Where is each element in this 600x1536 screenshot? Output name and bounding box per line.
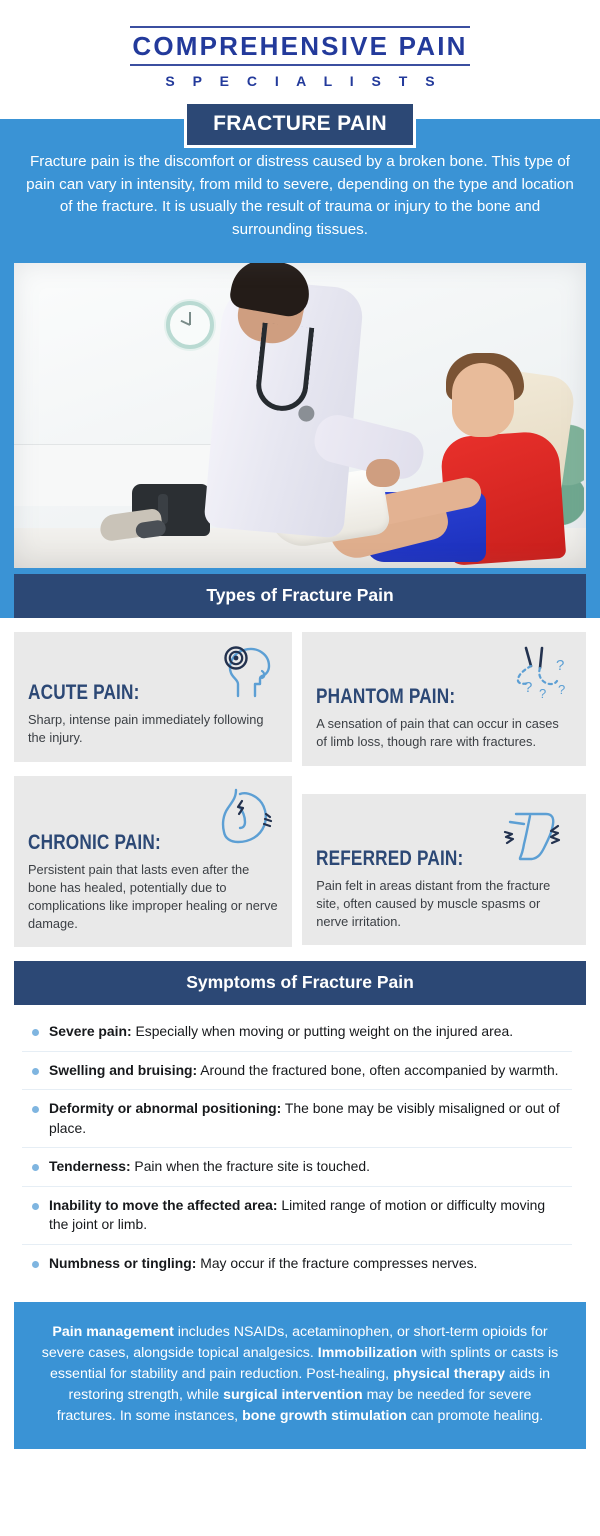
card-referred-pain: REFERRED PAIN: Pain felt in areas distan… — [302, 794, 586, 945]
intro-text: Fracture pain is the discomfort or distr… — [22, 151, 578, 241]
hero-photo — [14, 263, 586, 568]
footer-wrap: Pain management includes NSAIDs, acetami… — [0, 1288, 600, 1463]
symptom-text: Inability to move the affected area: Lim… — [49, 1196, 568, 1235]
card-head: PHANTOM PAIN: ? ? ? ? — [316, 644, 572, 709]
head-target-icon — [212, 644, 278, 705]
types-card-grid: ACUTE PAIN: Sharp, intense pain immediat… — [0, 618, 600, 947]
card-acute-pain: ACUTE PAIN: Sharp, intense pain immediat… — [14, 632, 292, 761]
brand-logo: COMPREHENSIVE PAIN S P E C I A L I S T S — [0, 0, 600, 101]
symptom-text: Deformity or abnormal positioning: The b… — [49, 1099, 568, 1138]
types-bar-wrap: Types of Fracture Pain — [0, 568, 600, 618]
types-section-heading: Types of Fracture Pain — [14, 574, 586, 618]
card-body-acute: Sharp, intense pain immediately followin… — [28, 705, 278, 747]
bullet-dot-icon — [32, 1261, 39, 1268]
symptom-list-item: Numbness or tingling: May occur if the f… — [22, 1245, 572, 1282]
svg-text:?: ? — [558, 682, 565, 697]
symptoms-section-heading: Symptoms of Fracture Pain — [14, 961, 586, 1005]
hero-photo-frame — [0, 257, 600, 568]
card-body-chronic: Persistent pain that lasts even after th… — [28, 855, 278, 934]
brand-name-secondary: S P E C I A L I S T S — [0, 66, 600, 89]
phantom-limb-question-icon: ? ? ? ? — [506, 644, 572, 709]
footer-highlight: bone growth stimulation — [242, 1408, 407, 1424]
infographic-page: COMPREHENSIVE PAIN S P E C I A L I S T S… — [0, 0, 600, 1536]
svg-text:?: ? — [524, 679, 532, 696]
footer-highlight: surgical intervention — [223, 1387, 363, 1403]
svg-text:?: ? — [539, 686, 546, 701]
symptom-label: Swelling and bruising: — [49, 1062, 197, 1078]
card-head: ACUTE PAIN: — [28, 644, 278, 705]
bullet-dot-icon — [32, 1029, 39, 1036]
symptoms-bar-wrap: Symptoms of Fracture Pain Severe pain: E… — [0, 947, 600, 1288]
symptom-list-item: Severe pain: Especially when moving or p… — [22, 1013, 572, 1051]
symptom-list-item: Swelling and bruising: Around the fractu… — [22, 1052, 572, 1090]
bullet-dot-icon — [32, 1203, 39, 1210]
svg-text:?: ? — [556, 657, 564, 674]
card-head: CHRONIC PAIN: — [28, 788, 278, 855]
symptom-label: Inability to move the affected area: — [49, 1197, 277, 1213]
symptom-label: Tenderness: — [49, 1158, 131, 1174]
photo-vignette — [14, 263, 586, 568]
legs-pain-burst-icon — [502, 806, 572, 871]
card-chronic-pain: CHRONIC PAIN: Persistent pain that lasts… — [14, 776, 292, 948]
footer-text: can promote healing. — [407, 1408, 543, 1424]
bullet-dot-icon — [32, 1068, 39, 1075]
treatment-summary-panel: Pain management includes NSAIDs, acetami… — [14, 1302, 586, 1449]
card-title-acute: ACUTE PAIN: — [28, 681, 140, 705]
card-title-chronic: CHRONIC PAIN: — [28, 831, 161, 855]
flexed-arm-pain-icon — [212, 788, 278, 855]
card-head: REFERRED PAIN: — [316, 806, 572, 871]
footer-highlight: Pain management — [52, 1324, 173, 1340]
brand-name-primary: COMPREHENSIVE PAIN — [0, 28, 600, 64]
card-body-phantom: A sensation of pain that can occur in ca… — [316, 709, 572, 751]
page-title: FRACTURE PAIN — [184, 101, 416, 148]
card-phantom-pain: PHANTOM PAIN: ? ? ? ? A sensation of pai… — [302, 632, 586, 765]
bullet-dot-icon — [32, 1106, 39, 1113]
symptom-text: Swelling and bruising: Around the fractu… — [49, 1061, 559, 1080]
title-badge-row: FRACTURE PAIN — [0, 101, 600, 137]
symptom-text: Tenderness: Pain when the fracture site … — [49, 1157, 370, 1176]
symptom-text: Numbness or tingling: May occur if the f… — [49, 1254, 477, 1273]
symptom-list-item: Tenderness: Pain when the fracture site … — [22, 1148, 572, 1186]
symptom-text: Severe pain: Especially when moving or p… — [49, 1022, 513, 1041]
card-title-phantom: PHANTOM PAIN: — [316, 685, 455, 709]
symptom-label: Severe pain: — [49, 1023, 132, 1039]
footer-highlight: Immobilization — [318, 1345, 417, 1361]
symptom-list-item: Deformity or abnormal positioning: The b… — [22, 1090, 572, 1148]
card-title-referred: REFERRED PAIN: — [316, 847, 463, 871]
card-body-referred: Pain felt in areas distant from the frac… — [316, 871, 572, 931]
symptom-list-item: Inability to move the affected area: Lim… — [22, 1187, 572, 1245]
symptoms-list: Severe pain: Especially when moving or p… — [14, 1005, 586, 1288]
footer-highlight: physical therapy — [393, 1366, 505, 1382]
symptom-label: Deformity or abnormal positioning: — [49, 1100, 281, 1116]
bullet-dot-icon — [32, 1164, 39, 1171]
symptom-label: Numbness or tingling: — [49, 1255, 196, 1271]
